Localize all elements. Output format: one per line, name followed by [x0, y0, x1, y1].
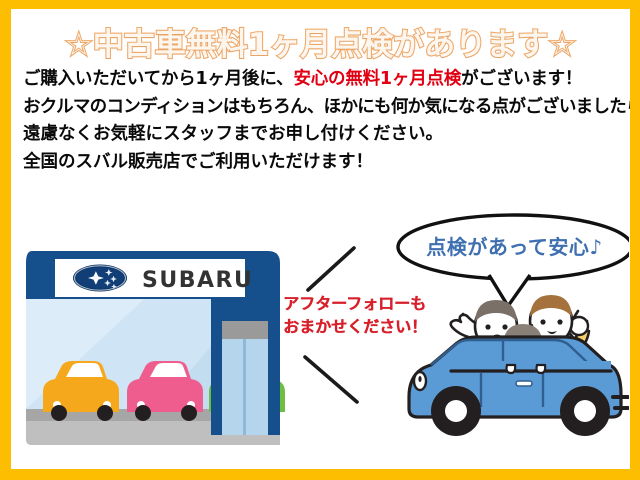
child-hand-left	[507, 365, 516, 373]
speech-bubble-text: 点検があって安心♪	[402, 231, 627, 260]
car-headlight-detail	[418, 376, 421, 382]
child-hand-right	[537, 365, 546, 373]
callout-line-1: アフターフォローも	[283, 292, 443, 315]
dealership-illustration: SUBARU	[26, 251, 285, 445]
callout-line-2: おまかせください！	[283, 315, 443, 338]
after-follow-callout: アフターフォローも おまかせください！	[283, 292, 443, 338]
door-divider	[243, 339, 246, 439]
arrow-line-upper	[308, 248, 354, 290]
advertisement-banner: ☆中古車無料1ヶ月点検があります☆ ご購入いただいてから1ヶ月後に、安心の無料1…	[0, 0, 640, 480]
subaru-oval-logo	[73, 265, 127, 292]
banner-content-area: ☆中古車無料1ヶ月点検があります☆ ご購入いただいてから1ヶ月後に、安心の無料1…	[11, 9, 630, 469]
car-door-handle	[516, 381, 532, 386]
sign-brand-text: SUBARU	[142, 268, 253, 293]
arrow-line-lower	[305, 357, 357, 402]
door-threshold	[211, 435, 280, 445]
